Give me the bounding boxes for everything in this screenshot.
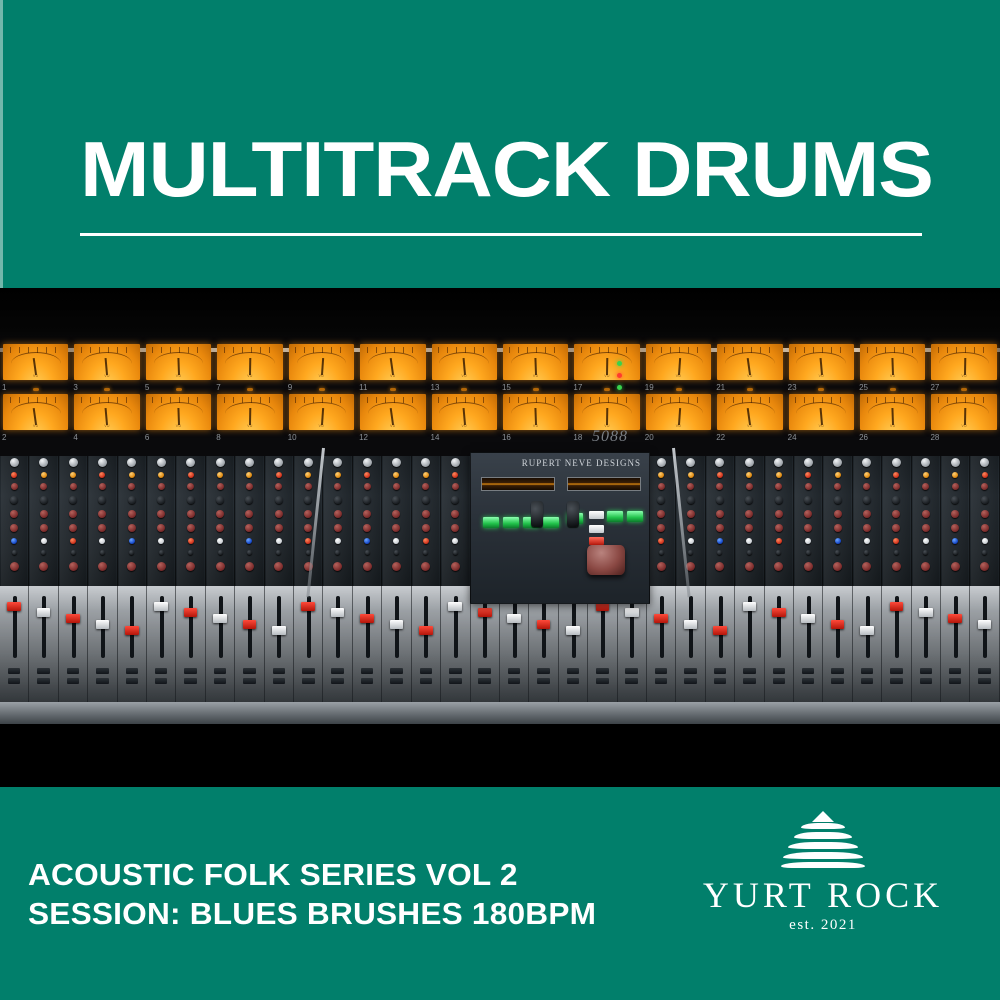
console-knob <box>862 458 871 467</box>
console-knob <box>451 562 460 571</box>
title-band: MULTITRACK DRUMS <box>0 0 1000 288</box>
console-knob <box>99 483 106 490</box>
console-knob <box>333 458 342 467</box>
vu-meter-cell: VU10 <box>286 394 357 430</box>
console-knob <box>922 524 930 532</box>
console-knob <box>10 496 18 504</box>
console-knob <box>923 538 929 544</box>
fader-slot <box>807 596 811 658</box>
channel-strip <box>118 456 147 588</box>
console-knob <box>657 510 665 518</box>
console-knob <box>834 524 842 532</box>
console-knob <box>658 483 665 490</box>
fader-channel <box>853 586 882 708</box>
fader-cap <box>654 614 668 623</box>
console-knob <box>364 472 370 478</box>
channel-solo-button <box>949 678 961 684</box>
vu-meter-icon: VU <box>503 344 568 380</box>
console-knob <box>364 483 371 490</box>
fader-cap <box>625 608 639 617</box>
vu-meter-cell: VU5 <box>143 344 214 380</box>
console-knob <box>717 472 723 478</box>
channel-mute-button <box>243 668 255 674</box>
vu-peak-led <box>176 388 182 391</box>
console-knob <box>157 562 166 571</box>
vu-peak-led <box>890 388 896 391</box>
console-knob <box>746 538 752 544</box>
channel-solo-button <box>802 678 814 684</box>
console-knob <box>981 524 989 532</box>
channel-solo-button <box>478 678 490 684</box>
console-knob <box>716 524 724 532</box>
vu-meter-icon: VU <box>432 394 497 430</box>
console-knob <box>41 472 47 478</box>
console-knob <box>157 510 165 518</box>
console-knob <box>129 550 134 555</box>
vu-meter-icon: VU <box>146 394 211 430</box>
photo-lower-shadow <box>0 724 1000 787</box>
yurt-band-4 <box>783 852 863 859</box>
channel-solo-button <box>184 678 196 684</box>
channel-mute-button <box>861 668 873 674</box>
console-knob <box>217 538 223 544</box>
console-knob <box>774 458 783 467</box>
vu-needle <box>606 358 608 375</box>
console-knob <box>10 458 19 467</box>
fader-cap <box>978 620 992 629</box>
console-knob <box>835 472 841 478</box>
console-knob <box>335 538 341 544</box>
console-knob <box>922 510 930 518</box>
fader-slot <box>660 596 664 658</box>
console-knob <box>128 510 136 518</box>
console-knob <box>216 562 225 571</box>
vu-meter-row-bottom: VU2VU4VU6VU8VU10VU12VU14VU16VU18VU20VU22… <box>0 394 1000 430</box>
fader-channel <box>323 586 352 708</box>
vu-scale-ticks <box>367 397 419 403</box>
vu-needle <box>747 358 751 375</box>
vu-meter-cell: VU22 <box>714 394 785 430</box>
channel-strip <box>823 456 852 588</box>
vu-channel-number: 11 <box>359 383 367 392</box>
vu-channel-number: 4 <box>73 433 77 442</box>
fader-cap <box>948 614 962 623</box>
fader-cap <box>213 614 227 623</box>
vu-channel-number: 18 <box>573 433 582 442</box>
console-knob <box>98 562 107 571</box>
vu-meter-icon: VU <box>503 394 568 430</box>
console-knob <box>805 472 811 478</box>
vu-meter-icon: VU <box>789 344 854 380</box>
vu-channel-number: 26 <box>859 433 868 442</box>
channel-solo-button <box>155 678 167 684</box>
console-knob <box>745 496 753 504</box>
console-knob <box>128 483 135 490</box>
console-knob <box>453 550 458 555</box>
console-knob <box>953 550 958 555</box>
channel-solo-button <box>596 678 608 684</box>
console-knob <box>245 524 253 532</box>
console-knob <box>392 458 401 467</box>
console-knob <box>451 524 459 532</box>
vu-needle <box>33 358 37 375</box>
vu-channel-number: 9 <box>288 383 292 392</box>
photo-backdrop <box>0 288 1000 350</box>
channel-solo-button <box>126 678 138 684</box>
channel-strip <box>206 456 235 588</box>
channel-strip <box>794 456 823 588</box>
vu-channel-number: 21 <box>716 383 725 392</box>
vu-needle <box>534 408 536 425</box>
vu-channel-number: 10 <box>288 433 297 442</box>
vu-needle <box>177 358 179 375</box>
console-knob <box>70 483 77 490</box>
vu-channel-number: 28 <box>930 433 939 442</box>
vu-scale-label: VU <box>789 424 854 428</box>
channel-mute-button <box>949 668 961 674</box>
channel-mute-button <box>126 668 138 674</box>
console-knob <box>127 562 136 571</box>
console-knob <box>187 483 194 490</box>
vu-scale-label: VU <box>717 374 782 378</box>
console-knob <box>864 538 870 544</box>
fader-slot <box>366 596 370 658</box>
left-edge-strip <box>0 0 3 288</box>
console-knob <box>275 524 283 532</box>
vu-meter-cell: VU20 <box>643 394 714 430</box>
status-lamp-green-2 <box>617 385 622 390</box>
console-knob <box>746 472 752 478</box>
channel-strip <box>147 456 176 588</box>
master-red-button-1 <box>589 537 604 545</box>
fader-channel <box>794 586 823 708</box>
console-knob <box>69 510 77 518</box>
console-knob <box>129 472 135 478</box>
console-knob <box>980 562 989 571</box>
console-knob <box>276 472 282 478</box>
console-knob <box>99 472 105 478</box>
console-knob <box>10 562 19 571</box>
vu-scale-ticks <box>10 397 62 403</box>
vu-meter-cell: VU12 <box>357 394 428 430</box>
yurt-band-3 <box>788 842 858 849</box>
console-knob <box>334 496 342 504</box>
console-knob <box>952 472 958 478</box>
console-knob <box>159 550 164 555</box>
vu-scale-label: VU <box>432 374 497 378</box>
vu-channel-number: 19 <box>645 383 654 392</box>
vu-scale-ticks <box>581 347 633 353</box>
console-knob <box>276 550 281 555</box>
channel-solo-button <box>96 678 108 684</box>
fader-cap <box>448 602 462 611</box>
status-lamp-green <box>617 361 622 366</box>
console-knob <box>805 483 812 490</box>
console-knob <box>688 472 694 478</box>
channel-mute-button <box>978 668 990 674</box>
console-knob <box>657 458 666 467</box>
console-knob <box>218 550 223 555</box>
console-knob <box>274 562 283 571</box>
console-knob <box>40 510 48 518</box>
console-knob <box>835 538 841 544</box>
console-knob <box>864 550 869 555</box>
channel-strip <box>853 456 882 588</box>
console-knob <box>452 472 458 478</box>
console-knob <box>747 550 752 555</box>
channel-mute-button <box>743 668 755 674</box>
master-fader-knob-1 <box>531 501 543 527</box>
console-knob <box>745 562 754 571</box>
vu-meter-icon: VU <box>432 344 497 380</box>
channel-solo-button <box>302 678 314 684</box>
vu-meter-icon: VU <box>217 394 282 430</box>
vu-scale-ticks <box>938 347 990 353</box>
master-green-button-1 <box>483 517 499 528</box>
product-cover-card: MULTITRACK DRUMS VU1VU3VU5VU7VU9VU11VU13… <box>0 0 1000 1000</box>
vu-meter-cell: VU18 <box>571 394 642 430</box>
console-knob <box>658 472 664 478</box>
channel-strip <box>647 456 676 588</box>
console-knob <box>245 458 254 467</box>
channel-mute-button <box>37 668 49 674</box>
vu-scale-ticks <box>509 347 561 353</box>
vu-channel-number: 7 <box>216 383 220 392</box>
channel-strip <box>88 456 117 588</box>
console-knob <box>422 510 430 518</box>
vu-scale-label: VU <box>717 424 782 428</box>
channel-solo-button <box>920 678 932 684</box>
vu-scale-label: VU <box>646 374 711 378</box>
console-knob <box>305 472 311 478</box>
channel-mute-button <box>890 668 902 674</box>
vu-meter-cell: VU8 <box>214 394 285 430</box>
console-knob <box>188 538 194 544</box>
fader-channel <box>588 586 617 708</box>
console-knob <box>745 524 753 532</box>
vu-needle <box>177 408 179 425</box>
console-knob <box>69 524 77 532</box>
console-knob <box>305 483 312 490</box>
console-knob <box>452 538 458 544</box>
console-knob <box>894 550 899 555</box>
console-knob <box>981 496 989 504</box>
console-knob <box>11 472 17 478</box>
channel-solo-button <box>890 678 902 684</box>
vu-scale-label: VU <box>146 374 211 378</box>
channel-mute-button <box>361 668 373 674</box>
console-knob <box>688 538 694 544</box>
console-knob <box>394 550 399 555</box>
fader-cap <box>125 626 139 635</box>
vu-channel-number: 27 <box>930 383 939 392</box>
console-knob <box>98 496 106 504</box>
channel-solo-button <box>567 678 579 684</box>
vu-needle <box>105 408 108 425</box>
brand-established: est. 2021 <box>698 917 948 934</box>
console-knob <box>951 510 959 518</box>
console-knob <box>833 458 842 467</box>
fader-cap <box>713 626 727 635</box>
channel-mute-button <box>714 668 726 674</box>
vu-meter-icon: VU <box>74 394 139 430</box>
fader-cap <box>478 608 492 617</box>
channel-solo-button <box>390 678 402 684</box>
channel-strip <box>412 456 441 588</box>
console-knob <box>216 524 224 532</box>
fader-channel <box>176 586 205 708</box>
console-knob <box>715 458 724 467</box>
console-knob <box>921 562 930 571</box>
console-knob <box>393 538 399 544</box>
fader-cap <box>272 626 286 635</box>
console-knob <box>40 496 48 504</box>
master-green-button-2 <box>503 517 519 528</box>
channel-solo-button <box>684 678 696 684</box>
console-knob <box>951 524 959 532</box>
console-knob <box>364 538 370 544</box>
console-knob <box>892 496 900 504</box>
vu-scale-label: VU <box>289 424 354 428</box>
fader-channel <box>412 586 441 708</box>
vu-meter-icon: VU <box>931 394 996 430</box>
console-knob <box>775 524 783 532</box>
console-knob <box>716 510 724 518</box>
console-knob <box>39 562 48 571</box>
fader-cap <box>801 614 815 623</box>
console-knob <box>745 510 753 518</box>
console-knob <box>245 510 253 518</box>
vu-meter-icon: VU <box>646 344 711 380</box>
console-knob <box>127 458 136 467</box>
console-knob <box>951 562 960 571</box>
console-knob <box>335 550 340 555</box>
console-knob <box>392 524 400 532</box>
channel-strip <box>29 456 58 588</box>
console-knob <box>246 472 252 478</box>
console-knob <box>452 483 459 490</box>
channel-strip <box>382 456 411 588</box>
console-knob <box>687 510 695 518</box>
master-white-button-2 <box>589 525 604 533</box>
console-knob <box>304 496 312 504</box>
yurt-peak <box>812 811 834 822</box>
channel-mute-button <box>331 668 343 674</box>
footer-band: ACOUSTIC FOLK SERIES VOL 2 SESSION: BLUE… <box>0 787 1000 1000</box>
channel-strip <box>912 456 941 588</box>
console-knob <box>922 496 930 504</box>
channel-solo-button <box>773 678 785 684</box>
console-knob <box>41 550 46 555</box>
fader-slot <box>483 596 487 658</box>
console-knob <box>365 550 370 555</box>
console-knob <box>804 510 812 518</box>
console-knob <box>423 472 429 478</box>
fader-channel <box>912 586 941 708</box>
vu-meter-cell: VU13 <box>429 344 500 380</box>
console-knob <box>187 524 195 532</box>
vu-meter-icon: VU <box>574 394 639 430</box>
console-knob <box>863 496 871 504</box>
vu-scale-ticks <box>224 397 276 403</box>
session-line: SESSION: BLUES BRUSHES 180BPM <box>28 894 596 933</box>
console-knob <box>98 524 106 532</box>
fader-channel <box>59 586 88 708</box>
console-knob <box>687 496 695 504</box>
console-knob <box>129 538 135 544</box>
vu-scale-label: VU <box>146 424 211 428</box>
console-knob <box>981 510 989 518</box>
console-knob <box>422 496 430 504</box>
vu-meter-icon: VU <box>646 394 711 430</box>
vu-meter-cell: VU28 <box>928 394 999 430</box>
yurt-band-5 <box>781 862 865 868</box>
vu-scale-ticks <box>10 347 62 353</box>
console-knob <box>982 550 987 555</box>
vu-scale-ticks <box>724 397 776 403</box>
vu-peak-led <box>676 388 682 391</box>
console-knob <box>804 496 812 504</box>
vu-needle <box>390 358 394 375</box>
channel-strip <box>353 456 382 588</box>
vu-scale-label: VU <box>432 424 497 428</box>
console-knob <box>892 458 901 467</box>
console-knob <box>982 538 988 544</box>
console-knob <box>276 538 282 544</box>
vu-peak-led <box>747 388 753 391</box>
master-section-panel: RUPERT NEVE DESIGNS <box>470 452 650 604</box>
vu-meter-icon: VU <box>360 394 425 430</box>
console-knob <box>775 496 783 504</box>
console-knob <box>717 538 723 544</box>
vu-scale-ticks <box>867 397 919 403</box>
vu-scale-label: VU <box>3 424 68 428</box>
fader-channel <box>294 586 323 708</box>
fader-cap <box>154 602 168 611</box>
vu-meter-cell: VU24 <box>786 394 857 430</box>
vu-scale-label: VU <box>217 424 282 428</box>
console-knob <box>304 510 312 518</box>
vu-needle <box>819 358 822 375</box>
vu-meter-cell: VU4 <box>71 394 142 430</box>
channel-mute-button <box>184 668 196 674</box>
channel-mute-button <box>684 668 696 674</box>
console-knob <box>12 550 17 555</box>
vu-scale-ticks <box>652 397 704 403</box>
fader-cap <box>331 608 345 617</box>
master-green-button-7 <box>627 511 643 522</box>
channel-mute-button <box>567 668 579 674</box>
fader-slot <box>219 596 223 658</box>
console-knob <box>422 524 430 532</box>
console-knob <box>217 472 223 478</box>
channel-solo-button <box>243 678 255 684</box>
page-title: MULTITRACK DRUMS <box>80 128 1000 210</box>
console-knob <box>687 483 694 490</box>
vu-scale-ticks <box>224 347 276 353</box>
vu-scale-label: VU <box>3 374 68 378</box>
console-knob <box>658 538 664 544</box>
console-knob <box>99 538 105 544</box>
fader-cap <box>243 620 257 629</box>
channel-strip <box>59 456 88 588</box>
fader-columns <box>0 586 1000 708</box>
vu-meter-cell: VU15 <box>500 344 571 380</box>
console-knob <box>775 483 782 490</box>
vu-needle <box>321 358 324 375</box>
console-knob <box>41 538 47 544</box>
vu-meter-cell: VU7 <box>214 344 285 380</box>
